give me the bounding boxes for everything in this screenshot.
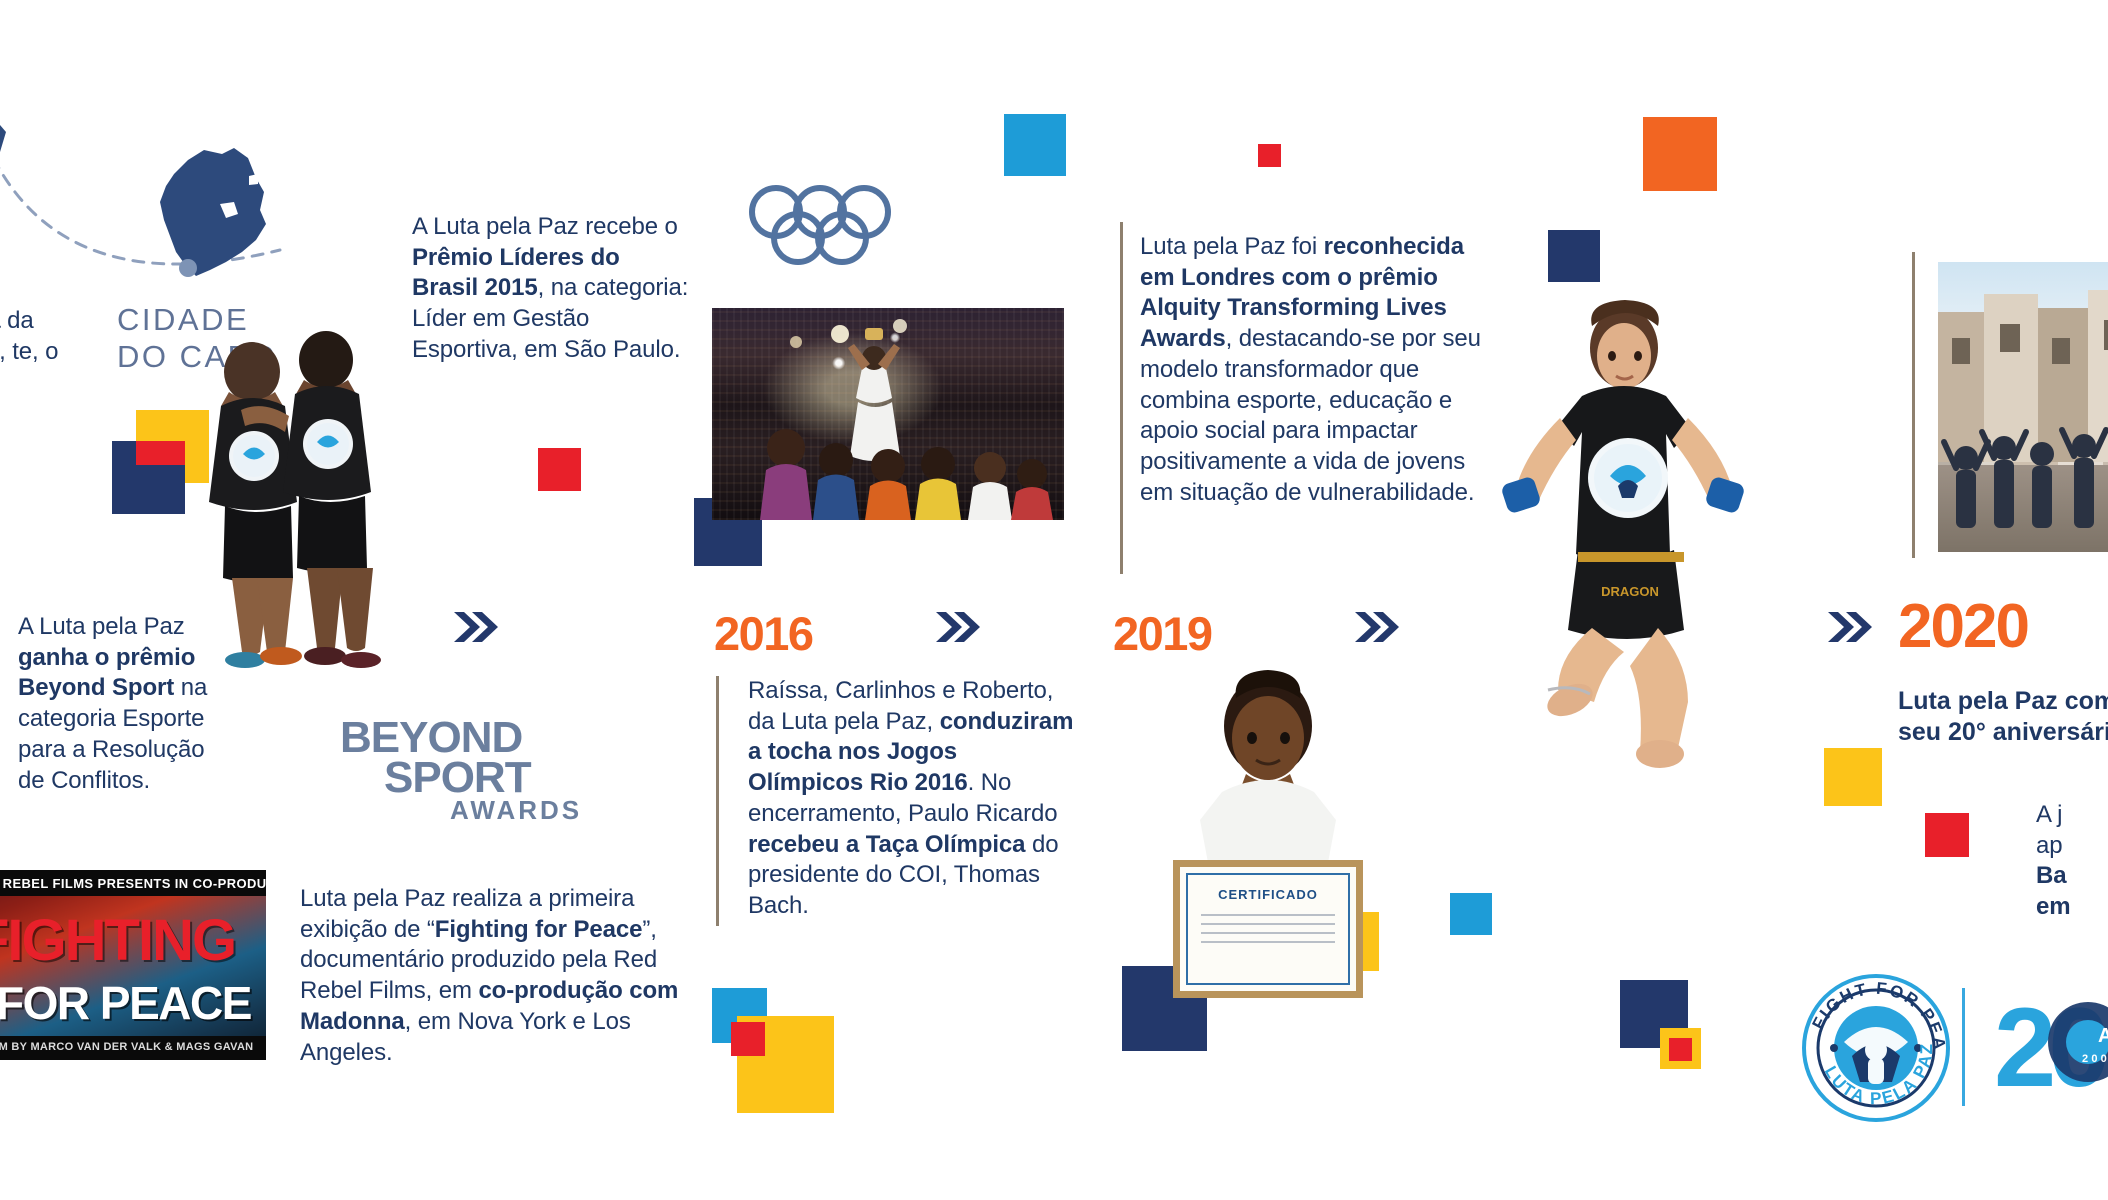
decorative-square-red-mid (538, 448, 581, 491)
brazil-map-fragment-icon (0, 118, 32, 198)
decorative-square-yellow-right (1824, 748, 1882, 806)
poster-title-line1: FIGHTING (0, 907, 235, 974)
community-street-photo (1938, 262, 2108, 552)
documentary-poster-image: RED REBEL FILMS PRESENTS IN CO-PRODUCTIO… (0, 870, 266, 1060)
olympic-rings-icon (748, 182, 918, 272)
svg-text:DRAGON: DRAGON (1601, 584, 1659, 599)
anniversary-20-anos-logo: 20 ANOS 2000-2020 (1994, 988, 2108, 1108)
decorative-square-blue-top (1004, 114, 1066, 176)
certificate-image: CERTIFICADO (1173, 860, 1363, 998)
decorative-square-red-left (136, 441, 185, 465)
anniversary-word: ANOS (2098, 1025, 2108, 1047)
poster-credit-top-bar: RED REBEL FILMS PRESENTS IN CO-PRODUCTIO… (0, 870, 266, 896)
poster-credit-bottom: A FILM BY MARCO VAN DER VALK & MAGS GAVA… (0, 1036, 266, 1053)
milestone-2020-headline-line1: Luta pela Paz com (1898, 686, 2108, 717)
anniversary-years: 2000-2020 (2082, 1053, 2108, 1065)
poster-credit-bottom-bar: A FILM BY MARCO VAN DER VALK & MAGS GAVA… (0, 1036, 266, 1060)
milestone-2020-paragraph-clipped: A japBaem (2036, 800, 2108, 923)
beyond-sport-paragraph: A Luta pela Paz ganha o prêmio Beyond Sp… (18, 612, 233, 796)
timeline-infographic: CIDADE DO CABO A Luta pela Paz recebe o … (0, 0, 2108, 1200)
logo-divider (1962, 988, 1965, 1106)
milestone-2016-paragraph: Raíssa, Carlinhos e Roberto, da Luta pel… (748, 676, 1078, 922)
south-africa-map-icon (130, 140, 280, 300)
fight-for-peace-logo: FIGHT FOR PEACE LUTA PELA PAZ (1800, 972, 1952, 1124)
timeline-arrow-1 (452, 608, 500, 646)
timeline-arrow-4 (1826, 608, 1874, 646)
rule-2019 (1120, 222, 1123, 574)
poster-title-for: FOR (0, 977, 100, 1029)
milestone-2020-headline: Luta pela Paz com seu 20° aniversário (1898, 686, 2108, 749)
year-label-2020: 2020 (1898, 596, 2028, 658)
olympic-torch-stadium-photo (712, 308, 1064, 520)
rule-2016 (716, 676, 719, 926)
certificate-lines (1201, 914, 1335, 950)
decorative-square-orange-top (1643, 117, 1717, 191)
decorative-square-blue-2019-right (1450, 893, 1492, 935)
beyond-sport-logo-line2: SPORT (340, 758, 590, 798)
decorative-square-red-bottom-right (1669, 1038, 1692, 1061)
decorative-square-red-small-top (1258, 144, 1281, 167)
beyond-sport-logo-line1: BEYOND (340, 718, 590, 758)
poster-title-line2: FOR PEACE (0, 976, 251, 1030)
decorative-square-red-2016-bottom (731, 1022, 765, 1056)
year-label-2016: 2016 (714, 610, 813, 657)
rule-2020-photo (1912, 252, 1915, 558)
timeline-arrow-3 (1353, 608, 1401, 646)
milestone-2020-headline-line2: seu 20° aniversário (1898, 717, 2108, 748)
beyond-sport-logo-line3: AWARDS (340, 799, 590, 823)
timeline-arrow-2 (934, 608, 982, 646)
beyond-sport-logo: BEYOND SPORT AWARDS (340, 718, 590, 823)
award-2015-paragraph: A Luta pela Paz recebe o Prêmio Líderes … (412, 212, 692, 366)
year-label-2019: 2019 (1113, 610, 1212, 657)
poster-title-peace: PEACE (100, 977, 251, 1029)
decorative-square-red-right (1925, 813, 1969, 857)
certificate-title: CERTIFICADO (1180, 887, 1356, 902)
jumping-athlete-photo: DRAGON (1452, 300, 1792, 790)
decorative-square-navy-top (1548, 230, 1600, 282)
poster-credit-top: RED REBEL FILMS PRESENTS IN CO-PRODUCTIO… (0, 870, 266, 891)
documentary-paragraph: Luta pela Paz realiza a primeira exibiçã… (300, 884, 682, 1068)
left-truncated-paragraph: ma da ton, te, o a (0, 306, 76, 398)
milestone-2019-paragraph: Luta pela Paz foi reconhecida em Londres… (1140, 232, 1488, 508)
